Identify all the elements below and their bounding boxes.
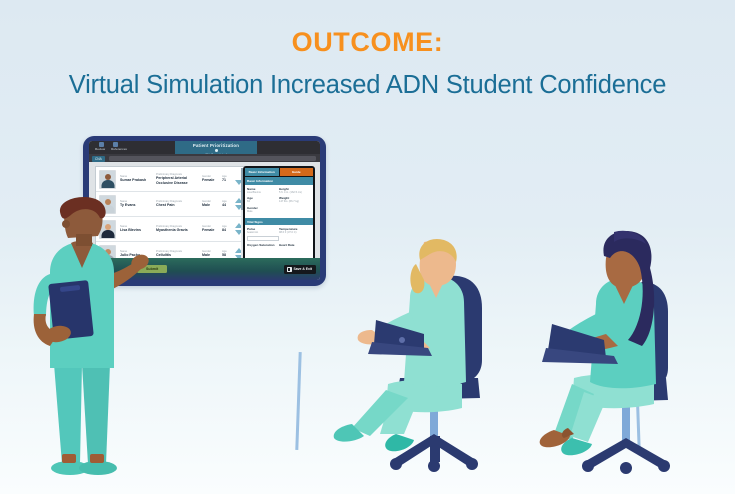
tab-basic-information[interactable]: Basic Information xyxy=(245,168,279,176)
field-label: Heart Rate xyxy=(279,243,311,247)
cell-gender: Female xyxy=(202,178,219,182)
illustration-scene: Review References Patient Prioritization… xyxy=(0,0,735,494)
field-temperature: Temperature 98.6 F (37.0 C) xyxy=(279,227,311,240)
field-value: 84 xyxy=(247,200,279,203)
window-title: Patient Prioritization xyxy=(175,143,257,148)
field-value: 98.6 F (37.0 C) xyxy=(279,231,311,234)
save-exit-label: Save & Exit xyxy=(294,267,312,271)
toolbar-icon-2[interactable] xyxy=(113,142,118,147)
chair-caster-left xyxy=(582,460,594,472)
desk-leg-left xyxy=(295,352,301,450)
save-icon xyxy=(287,267,292,272)
chair-caster-right xyxy=(658,460,670,472)
instructor-leg-right xyxy=(82,364,110,464)
field-age: Age 84 xyxy=(247,196,279,203)
info-panel-sheet: Basic Information Name Lisa Blevins Heig… xyxy=(245,177,313,269)
cell-gender: Female xyxy=(202,228,219,232)
chair-caster-center xyxy=(428,460,440,472)
instructor-neck xyxy=(76,234,92,246)
cell-diagnosis: Myasthenia Gravis xyxy=(156,228,199,232)
person-student-dark xyxy=(518,228,708,473)
cell-gender: Male xyxy=(202,203,219,207)
field-value: 147 lbs. (66.7 kg) xyxy=(279,200,311,203)
menu-item-review[interactable]: Review xyxy=(95,148,105,151)
field-oxygen-saturation: Oxygen Saturation xyxy=(247,243,279,247)
field-pulse: Pulse beats/min xyxy=(247,227,279,240)
field-label: Oxygen Saturation xyxy=(247,243,279,247)
section-heading-basic-information: Basic Information xyxy=(245,177,313,184)
vital-signs-fields: Pulse beats/min Temperature 98.6 F (37.0… xyxy=(245,225,313,251)
field-heart-rate: Heart Rate xyxy=(279,243,311,247)
field-name: Name Lisa Blevins xyxy=(247,187,279,194)
field-height: Height 5 ft. 4 in. (162.5 cm) xyxy=(279,187,311,194)
chair-caster-center xyxy=(620,462,632,474)
field-value: 5 ft. 4 in. (162.5 cm) xyxy=(279,191,311,194)
cell-diagnosis: Chest Pain xyxy=(156,203,199,207)
app-titlebar: Review References Patient Prioritization… xyxy=(89,141,320,154)
address-bar[interactable] xyxy=(109,156,316,161)
browser-tab[interactable]: CNA xyxy=(92,156,105,162)
field-value: Lisa Blevins xyxy=(247,191,279,194)
instructor-shoe-right xyxy=(79,461,117,475)
app-toolbar-icons xyxy=(99,142,118,147)
menu-item-references[interactable]: References xyxy=(111,148,127,151)
app-tabbar: CNA xyxy=(89,154,320,162)
instructor-ear xyxy=(62,220,70,228)
save-exit-button[interactable]: Save & Exit xyxy=(284,265,316,274)
table-row[interactable]: Name Sumar Prakash Preliminary Diagnosis… xyxy=(96,167,244,192)
tab-guide[interactable]: Guide xyxy=(280,168,314,176)
instructor-leg-left xyxy=(54,364,82,464)
cell-age: 84 xyxy=(222,228,230,232)
cell-diagnosis: Peripheral Arterial Occlusive Disease xyxy=(156,176,199,185)
person-instructor xyxy=(24,196,142,486)
basic-information-fields: Name Lisa Blevins Height 5 ft. 4 in. (16… xyxy=(245,185,313,219)
field-gender: Gender Male xyxy=(247,206,279,213)
section-heading-vital-signs: Vital Signs xyxy=(245,218,313,225)
field-value: beats/min xyxy=(247,231,279,234)
cell-age: 44 xyxy=(222,203,230,207)
pulse-input[interactable] xyxy=(247,236,279,241)
laptop-logo-icon xyxy=(399,337,405,343)
chair-caster-right xyxy=(466,458,478,470)
cell-age: 71 xyxy=(222,178,230,182)
info-panel-tabs: Basic Information Guide xyxy=(245,168,313,176)
field-value: Male xyxy=(247,210,279,213)
toolbar-icon-1[interactable] xyxy=(99,142,104,147)
cell-patient-name: Sumar Prakash xyxy=(120,178,153,182)
person-student-blonde xyxy=(330,238,520,473)
progress-dot-icon xyxy=(215,149,218,152)
field-weight: Weight 147 lbs. (66.7 kg) xyxy=(279,196,311,203)
chair-caster-left xyxy=(390,458,402,470)
avatar xyxy=(99,170,116,189)
student-shoe-back xyxy=(385,434,414,451)
